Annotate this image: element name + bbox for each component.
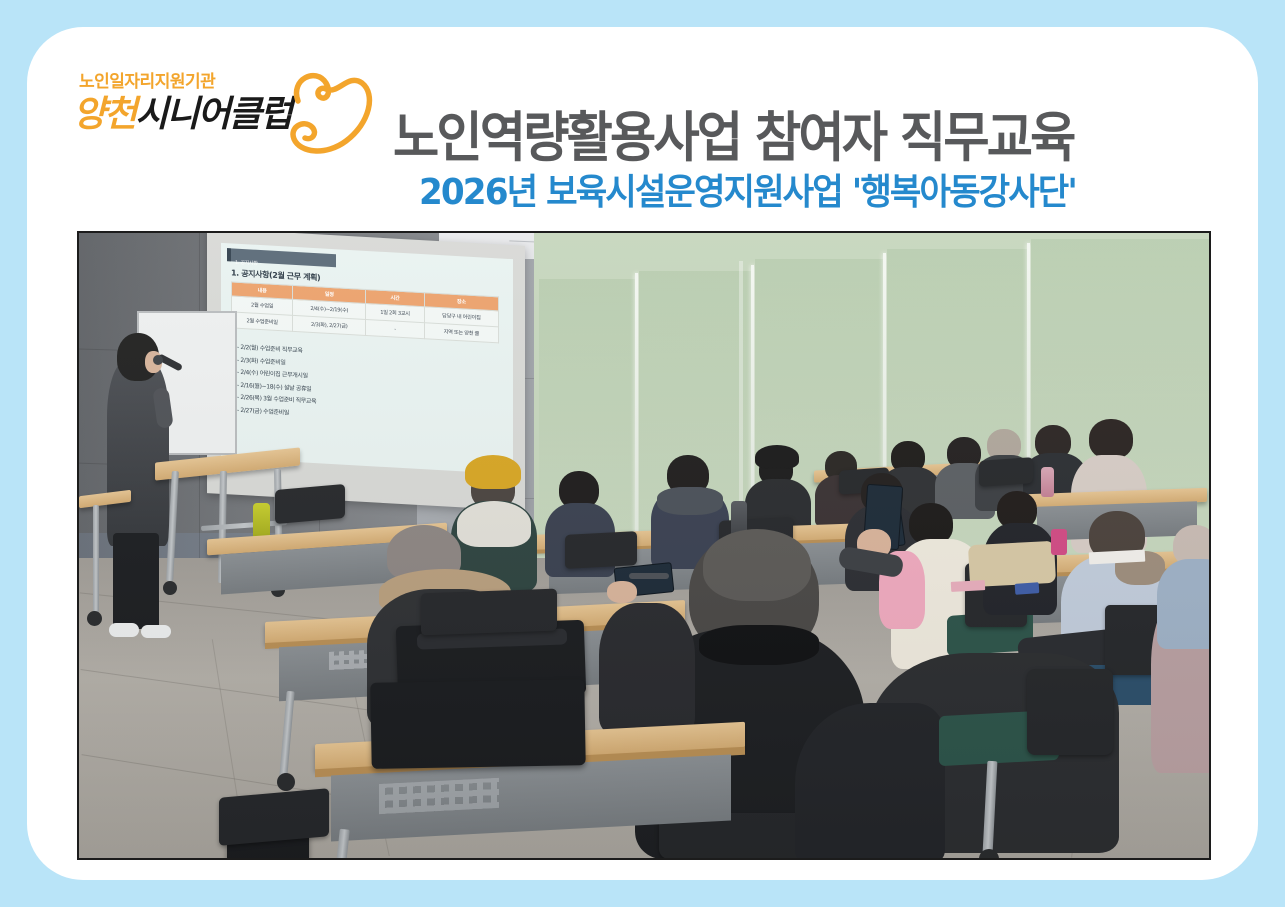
slide-tab-label: 1. 공지사항: [231, 259, 258, 266]
panel-pattern: [329, 650, 369, 670]
logo-wordmark: 양천시니어클럽: [73, 85, 291, 137]
water-bottle: [1041, 467, 1054, 497]
classroom-scene: 1. 공지사항 1. 공지사항(2월 근무 계획) 내용 일정 시간 장소: [79, 233, 1209, 858]
attendee-arm: [795, 703, 945, 860]
chair-back: [979, 457, 1033, 487]
poster-page: 노인일자리지원기관 양천시니어클럽 노인역량활용사업 참여자 직무교육 2026…: [0, 0, 1285, 907]
backpack: [370, 679, 585, 769]
chair-back: [1027, 669, 1113, 755]
chair-back: [275, 484, 345, 524]
cup: [1051, 529, 1067, 555]
logo-wordmark-orange: 양천: [73, 94, 135, 135]
scarf: [457, 501, 531, 547]
organization-logo: 노인일자리지원기관 양천시니어클럽: [73, 63, 373, 168]
scarf: [657, 487, 723, 515]
paper-sheet: [951, 580, 985, 592]
attendee-body: [1157, 559, 1211, 649]
cell-1-1: 2/3(화), 2/27(금): [293, 315, 366, 335]
cell-1-2: -: [366, 319, 424, 338]
caster-wheel: [87, 611, 102, 626]
presenter-shoe: [141, 625, 171, 638]
table-leg: [93, 505, 99, 613]
attendee-head: [1089, 419, 1133, 459]
microphone-head: [153, 355, 163, 365]
caster-wheel: [163, 581, 177, 595]
page-title: 노인역량활용사업 참여자 직무교육: [393, 109, 1074, 167]
card-item: [1015, 582, 1040, 595]
cap-icon: [755, 445, 799, 469]
slide-tab: 1. 공지사항: [227, 248, 336, 267]
fur-collar: [699, 625, 819, 665]
page-subtitle: 2026년 보육시설운영지원사업 '행복아동강사단': [419, 173, 1076, 213]
beanie-hat-icon: [465, 455, 521, 489]
slide-bullets: - 2/2(월) 수업준비 직무교육 - 2/3(화) 수업준비일 - 2/4(…: [237, 342, 316, 421]
content-card: 노인일자리지원기관 양천시니어클럽 노인역량활용사업 참여자 직무교육 2026…: [27, 27, 1258, 880]
slide-table: 내용 일정 시간 장소 2월 수업일 2/4(수)~2/19(수) 1일 2회 …: [231, 281, 499, 343]
chair-back: [565, 531, 637, 569]
attendee-body: [599, 603, 695, 733]
attendee-hair: [703, 529, 811, 601]
presenter-legs: [113, 533, 159, 629]
poster-header: 노인일자리지원기관 양천시니어클럽 노인역량활용사업 참여자 직무교육 2026…: [27, 27, 1258, 227]
cell-1-3: 지역 또는 양천 클: [424, 323, 498, 343]
cell-1-0: 2월 수업준비일: [232, 312, 293, 331]
panel-pattern: [379, 778, 499, 814]
slide-heading: 1. 공지사항(2월 근무 계획): [231, 267, 320, 283]
presentation-slide: 1. 공지사항 1. 공지사항(2월 근무 계획) 내용 일정 시간 장소: [221, 243, 513, 474]
heart-swirl-icon: [268, 61, 376, 161]
chair-back: [421, 589, 557, 636]
event-photo: 1. 공지사항 1. 공지사항(2월 근무 계획) 내용 일정 시간 장소: [77, 231, 1211, 860]
chair-back: [219, 788, 329, 846]
presenter-shoe: [109, 623, 139, 637]
hand: [607, 581, 637, 603]
caster-wheel: [277, 773, 295, 791]
